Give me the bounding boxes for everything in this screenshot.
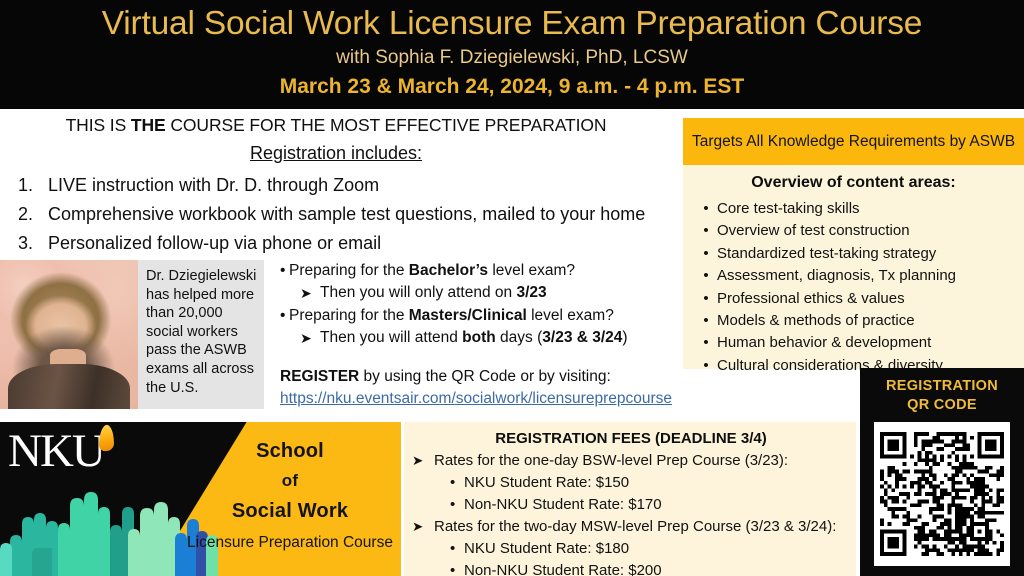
intro-headline-emphasis: THE bbox=[131, 115, 166, 135]
event-dateline: March 23 & March 24, 2024, 9 a.m. - 4 p.… bbox=[280, 73, 745, 100]
intro-headline: THIS IS THE COURSE FOR THE MOST EFFECTIV… bbox=[0, 112, 672, 139]
list-item-number: 2. bbox=[18, 200, 48, 229]
bullet-icon: • bbox=[695, 332, 717, 354]
prep-answer-bachelors: ➤ Then you will only attend on 3/23 bbox=[280, 282, 680, 304]
fees-group-heading-label: Rates for the one-day BSW-level Prep Cou… bbox=[434, 450, 788, 472]
bullet-icon: • bbox=[450, 560, 464, 576]
registration-link[interactable]: https://nku.eventsair.com/socialwork/lic… bbox=[280, 389, 680, 409]
fees-group-heading: ➤Rates for the one-day BSW-level Prep Co… bbox=[412, 450, 850, 472]
nku-school-banner: NKU School of Social Work Licensure Prep… bbox=[0, 422, 401, 576]
school-line-1: School bbox=[185, 436, 395, 466]
prep-answer-bachelors-text: Then you will only attend on 3/23 bbox=[320, 282, 547, 304]
list-item-label: Professional ethics & values bbox=[717, 288, 905, 310]
school-line-4: Licensure Preparation Course bbox=[185, 532, 395, 554]
arrow-icon: ➤ bbox=[300, 327, 320, 349]
registration-includes-list: 1. LIVE instruction with Dr. D. through … bbox=[0, 171, 672, 258]
list-item-label: Comprehensive workbook with sample test … bbox=[48, 200, 672, 229]
school-of-social-work-text: School of Social Work Licensure Preparat… bbox=[185, 436, 395, 554]
arrow-icon: ➤ bbox=[300, 282, 320, 304]
bullet-icon: • bbox=[695, 355, 717, 377]
list-item-label: LIVE instruction with Dr. D. through Zoo… bbox=[48, 171, 672, 200]
arrow-icon: ➤ bbox=[412, 516, 434, 538]
fees-title: REGISTRATION FEES (DEADLINE 3/4) bbox=[412, 428, 850, 450]
register-label: REGISTER bbox=[280, 368, 359, 385]
list-item-label: Human behavior & development bbox=[717, 332, 931, 354]
list-item: •Models & methods of practice bbox=[695, 310, 1024, 332]
list-item: 1. LIVE instruction with Dr. D. through … bbox=[18, 171, 672, 200]
fees-row: •Non-NKU Student Rate: $170 bbox=[412, 494, 850, 516]
bullet-icon: • bbox=[450, 472, 464, 494]
list-item-number: 1. bbox=[18, 171, 48, 200]
list-item: 2. Comprehensive workbook with sample te… bbox=[18, 200, 672, 229]
fees-row-label: NKU Student Rate: $150 bbox=[464, 472, 629, 494]
list-item: •Overview of test construction bbox=[695, 220, 1024, 242]
fees-group-heading-label: Rates for the two-day MSW-level Prep Cou… bbox=[434, 516, 836, 538]
page-title: Virtual Social Work Licensure Exam Prepa… bbox=[102, 3, 922, 44]
fees-group-heading: ➤Rates for the two-day MSW-level Prep Co… bbox=[412, 516, 850, 538]
bullet-icon: • bbox=[280, 260, 289, 281]
bullet-icon: • bbox=[695, 265, 717, 287]
registration-includes-text: Registration includes: bbox=[250, 143, 422, 163]
prep-question-bachelors: • Preparing for the Bachelor’s level exa… bbox=[280, 260, 680, 281]
flame-icon bbox=[99, 424, 114, 452]
school-line-2: of bbox=[185, 466, 395, 496]
list-item-label: Standardized test-taking strategy bbox=[717, 243, 936, 265]
qr-title-line-2: QR CODE bbox=[907, 396, 977, 415]
prep-question-masters: • Preparing for the Masters/Clinical lev… bbox=[280, 305, 680, 326]
prep-question-bachelors-text: Preparing for the Bachelor’s level exam? bbox=[289, 260, 575, 281]
intro-section: THIS IS THE COURSE FOR THE MOST EFFECTIV… bbox=[0, 112, 672, 258]
nku-logo: NKU bbox=[8, 426, 104, 476]
aswb-content-panel: Targets All Knowledge Requirements by AS… bbox=[683, 118, 1024, 369]
poster-header: Virtual Social Work Licensure Exam Prepa… bbox=[0, 0, 1024, 109]
registration-qr-panel: REGISTRATION QR CODE bbox=[860, 368, 1024, 576]
prep-answer-masters: ➤ Then you will attend both days (3/23 &… bbox=[280, 327, 680, 349]
intro-headline-post: COURSE FOR THE MOST EFFECTIVE PREPARATIO… bbox=[166, 115, 607, 135]
prep-answer-masters-text: Then you will attend both days (3/23 & 3… bbox=[320, 327, 628, 349]
list-item-label: Assessment, diagnosis, Tx planning bbox=[717, 265, 956, 287]
bullet-icon: • bbox=[450, 494, 464, 516]
exam-level-guidance: • Preparing for the Bachelor’s level exa… bbox=[280, 260, 680, 409]
intro-headline-pre: THIS IS bbox=[66, 115, 131, 135]
registration-fees-panel: REGISTRATION FEES (DEADLINE 3/4) ➤Rates … bbox=[404, 422, 856, 576]
fees-row: •NKU Student Rate: $180 bbox=[412, 538, 850, 560]
list-item: •Professional ethics & values bbox=[695, 288, 1024, 310]
qr-title-line-1: REGISTRATION bbox=[886, 377, 998, 396]
bullet-icon: • bbox=[695, 310, 717, 332]
bullet-icon: • bbox=[450, 538, 464, 560]
bullet-icon: • bbox=[695, 243, 717, 265]
list-item-label: Overview of test construction bbox=[717, 220, 910, 242]
qr-code-container[interactable] bbox=[874, 422, 1010, 566]
presenter-photo bbox=[0, 260, 138, 409]
list-item: 3. Personalized follow-up via phone or e… bbox=[18, 229, 672, 258]
photo-torso-shape bbox=[8, 364, 129, 409]
list-item: •Human behavior & development bbox=[695, 332, 1024, 354]
fees-row-label: NKU Student Rate: $180 bbox=[464, 538, 629, 560]
list-item: •Core test-taking skills bbox=[695, 198, 1024, 220]
fees-row: •NKU Student Rate: $150 bbox=[412, 472, 850, 494]
bullet-icon: • bbox=[695, 220, 717, 242]
prep-question-masters-text: Preparing for the Masters/Clinical level… bbox=[289, 305, 614, 326]
list-item: •Standardized test-taking strategy bbox=[695, 243, 1024, 265]
list-item-label: Models & methods of practice bbox=[717, 310, 915, 332]
registration-includes-label: Registration includes: bbox=[0, 140, 672, 166]
school-line-3: Social Work bbox=[185, 496, 395, 526]
arrow-icon: ➤ bbox=[412, 450, 434, 472]
fees-row: •Non-NKU Student Rate: $200 bbox=[412, 560, 850, 576]
qr-code-icon[interactable] bbox=[880, 432, 1004, 556]
list-item: •Assessment, diagnosis, Tx planning bbox=[695, 265, 1024, 287]
register-instruction: REGISTER by using the QR Code or by visi… bbox=[280, 366, 680, 388]
list-item-number: 3. bbox=[18, 229, 48, 258]
bullet-icon: • bbox=[695, 288, 717, 310]
list-item-label: Personalized follow-up via phone or emai… bbox=[48, 229, 672, 258]
bullet-icon: • bbox=[695, 198, 717, 220]
fees-row-label: Non-NKU Student Rate: $170 bbox=[464, 494, 662, 516]
register-instruction-text: by using the QR Code or by visiting: bbox=[359, 368, 611, 385]
list-item-label: Core test-taking skills bbox=[717, 198, 860, 220]
poster-canvas: Virtual Social Work Licensure Exam Prepa… bbox=[0, 0, 1024, 576]
presenter-bio-block: Dr. Dziegielewski has helped more than 2… bbox=[0, 260, 264, 409]
fees-row-label: Non-NKU Student Rate: $200 bbox=[464, 560, 662, 576]
bullet-icon: • bbox=[280, 305, 289, 326]
white-divider bbox=[0, 409, 856, 422]
aswb-content-list: •Core test-taking skills •Overview of te… bbox=[683, 198, 1024, 377]
presenter-subtitle: with Sophia F. Dziegielewski, PhD, LCSW bbox=[336, 45, 688, 71]
aswb-panel-header: Targets All Knowledge Requirements by AS… bbox=[683, 118, 1024, 165]
aswb-panel-subheader: Overview of content areas: bbox=[683, 172, 1024, 194]
presenter-bio-text: Dr. Dziegielewski has helped more than 2… bbox=[138, 260, 264, 409]
